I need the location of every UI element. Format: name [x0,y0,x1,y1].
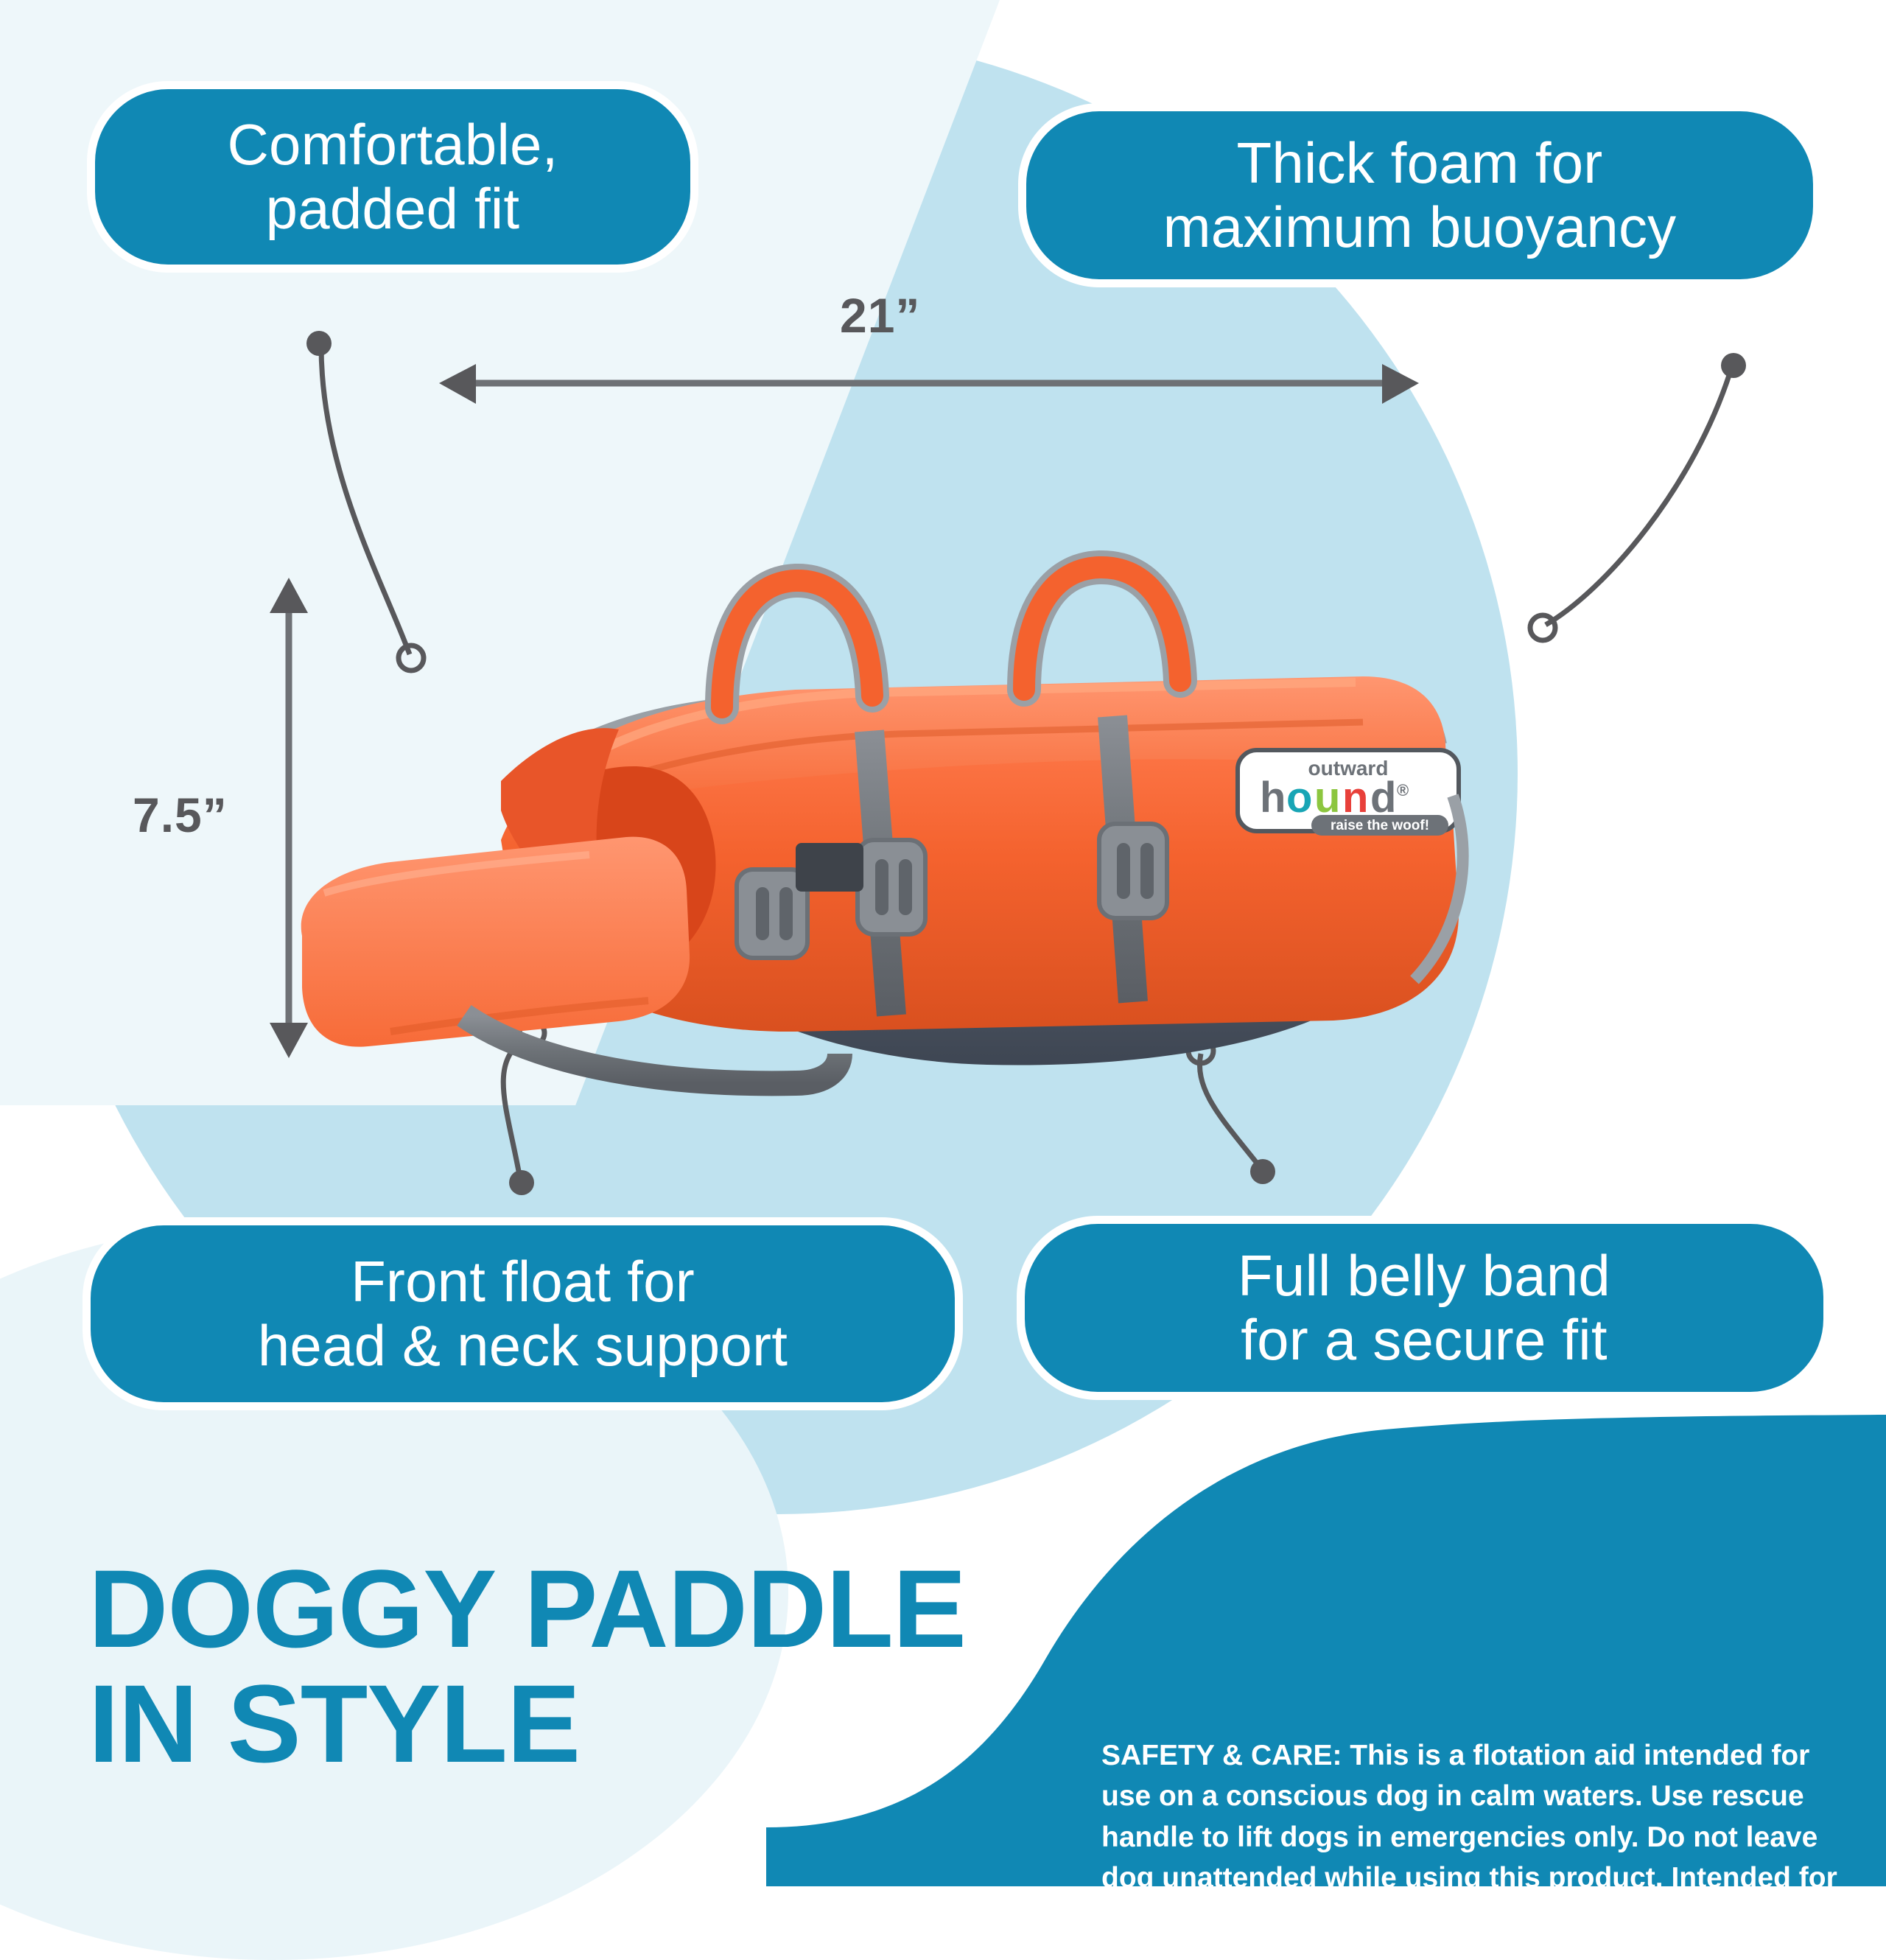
svg-text:h: h [1260,774,1286,822]
product-image-dog-life-jacket: outward h o u n d ® raise the woof! [280,398,1606,1149]
callout-comfortable-padded-fit[interactable]: Comfortable, padded fit [87,81,698,273]
svg-text:n: n [1342,774,1368,822]
callout-front-float-head-neck-support[interactable]: Front float for head & neck support [83,1217,963,1410]
buckle-2 [1099,824,1167,918]
rescue-handle-front [1024,567,1180,690]
callout-thick-foam-buoyancy[interactable]: Thick foam for maximum buoyancy [1018,103,1821,287]
callout-full-belly-band[interactable]: Full belly band for a secure fit [1017,1216,1831,1400]
rescue-handle-rear [722,581,872,707]
logo-tagline-text: raise the woof! [1331,818,1429,833]
svg-text:®: ® [1397,781,1409,799]
infographic-canvas: 21” 7.5” [0,0,1886,1886]
velcro-patch [796,843,863,892]
safety-and-care-text: SAFETY & CARE: This is a flotation aid i… [1101,1735,1845,1939]
svg-text:o: o [1286,774,1312,822]
svg-text:d: d [1370,774,1396,822]
page-title: DOGGY PADDLE IN STYLE [88,1551,966,1781]
svg-text:u: u [1314,774,1340,822]
logo-hound-text: h o u n d ® [1260,774,1409,822]
brand-logo-patch: outward h o u n d ® raise the woof! [1238,750,1459,836]
buckle-1 [858,840,925,934]
